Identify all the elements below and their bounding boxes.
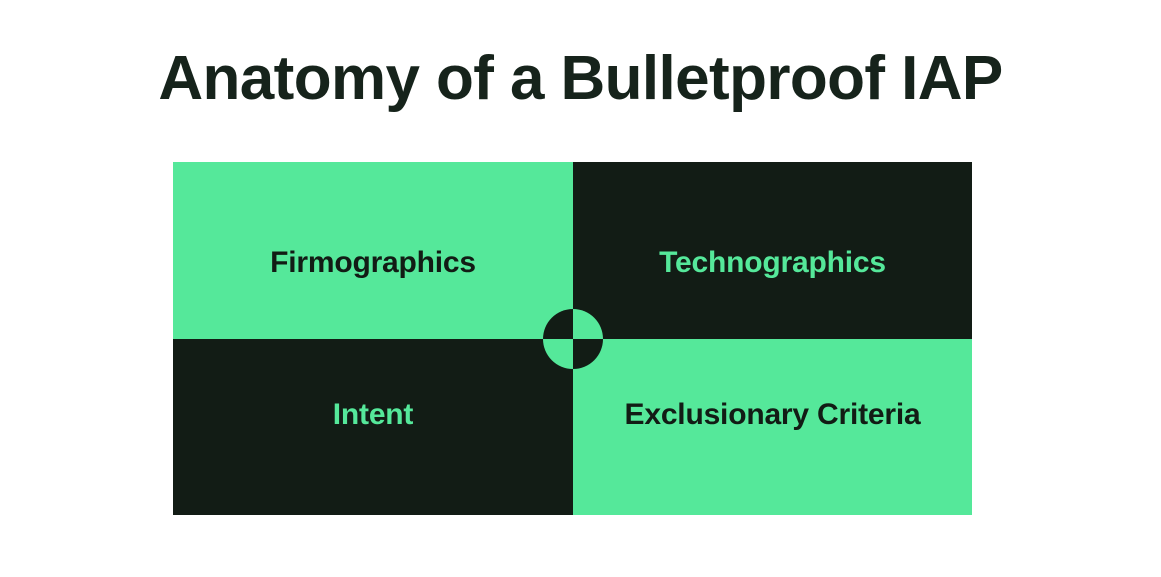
quadrant-firmographics[interactable]: Firmographics <box>173 162 573 339</box>
quadrant-label-technographics: Technographics <box>659 246 886 280</box>
quadrant-label-exclusionary-criteria: Exclusionary Criteria <box>625 398 921 432</box>
quadrant-label-intent: Intent <box>333 398 413 432</box>
quadrant-exclusionary-criteria[interactable]: Exclusionary Criteria <box>573 339 972 515</box>
quadrant-matrix: Firmographics Technographics Intent Excl… <box>173 162 972 515</box>
quadrant-technographics[interactable]: Technographics <box>573 162 972 339</box>
quadrant-label-firmographics: Firmographics <box>270 246 476 280</box>
page-title: Anatomy of a Bulletproof IAP <box>0 46 1161 112</box>
quadrant-intent[interactable]: Intent <box>173 339 573 515</box>
